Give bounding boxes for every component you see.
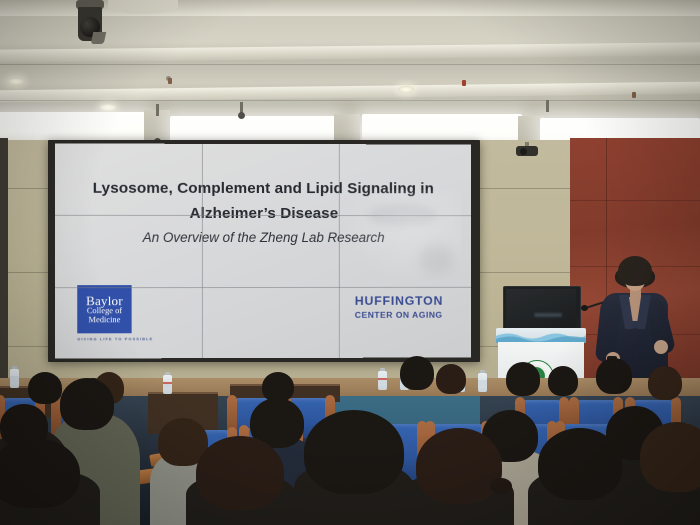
presenter-hand [654,340,668,354]
baylor-logo-mark: Baylor College of Medicine [77,285,131,333]
audience-head [416,428,502,504]
huffington-logo-line2: CENTER ON AGING [355,310,443,320]
presentation-slide: Lysosome, Complement and Lipid Signaling… [55,143,471,358]
audience-head [648,366,682,400]
water-bottle [163,372,172,394]
water-bottle [478,370,487,392]
podium-monitor [503,286,581,334]
downlight [398,86,414,93]
audience-head [640,422,700,492]
audience-head [0,438,80,508]
audience-head [28,372,62,404]
ceiling-dome [108,0,178,14]
slide-surface: Lysosome, Complement and Lipid Signaling… [55,143,471,358]
audience-head [596,358,632,394]
hair-bun [490,478,512,494]
water-bottle [378,368,387,390]
screen-reflection [419,244,453,274]
huffington-logo-line1: HUFFINGTON [355,294,443,308]
ceiling-camera-icon [70,0,110,48]
lecture-hall-photo: Lysosome, Complement and Lipid Signaling… [0,0,700,525]
screen-reflection [368,204,438,226]
baylor-logo: Baylor College of Medicine GIVING LIFE T… [77,285,131,341]
sprinkler-head [462,80,466,86]
audience-head [304,410,404,494]
audience-head [60,378,114,430]
panel-seam [339,144,340,358]
ceiling-seam [0,100,700,101]
downlight [8,78,24,85]
audience-head [196,436,284,510]
slide-title-line1: Lysosome, Complement and Lipid Signaling… [55,180,471,198]
baylor-logo-tagline: GIVING LIFE TO POSSIBLE [77,336,145,341]
audience-head [400,356,434,390]
wall-edge-shadow [0,138,8,400]
audience-head [436,364,466,394]
video-wall-screen[interactable]: Lysosome, Complement and Lipid Signaling… [48,140,480,362]
wall-camera-icon [516,142,538,156]
audience-head [538,428,622,500]
panel-seam [202,144,203,358]
water-bottle [10,366,19,388]
slide-subtitle: An Overview of the Zheng Lab Research [55,230,471,245]
audience-head [548,366,578,396]
sprinkler-head [168,78,172,84]
audience-head [506,362,540,396]
huffington-logo: HUFFINGTON CENTER ON AGING [355,294,443,320]
baylor-logo-line3: Medicine [88,316,120,325]
sprinkler-head [632,92,636,98]
ceiling-seam [0,64,700,65]
